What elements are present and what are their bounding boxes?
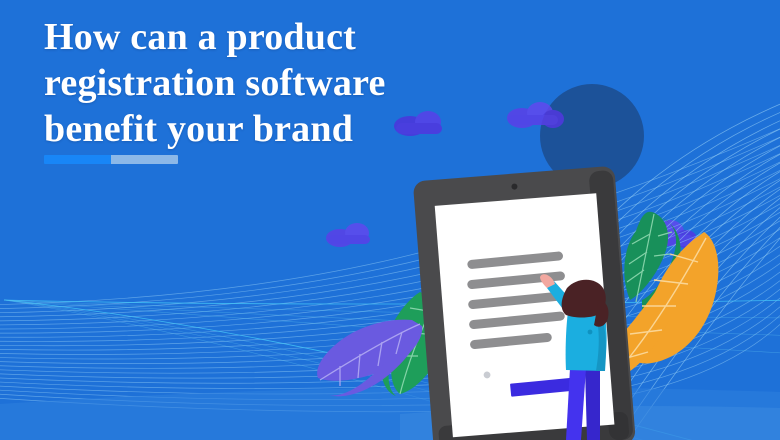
accent-bar-filled: [44, 155, 111, 164]
banner-image: How can a product registration software …: [0, 0, 780, 440]
headline-line-2: registration software: [44, 60, 514, 106]
person-collar-dot: [588, 330, 593, 335]
page-title: How can a product registration software …: [44, 14, 514, 152]
headline-line-1: How can a product: [44, 14, 514, 60]
accent-bar-track: [111, 155, 178, 164]
headline-line-3: benefit your brand: [44, 106, 514, 152]
person-leg-back: [585, 368, 600, 440]
accent-progress-bar: [44, 155, 178, 164]
